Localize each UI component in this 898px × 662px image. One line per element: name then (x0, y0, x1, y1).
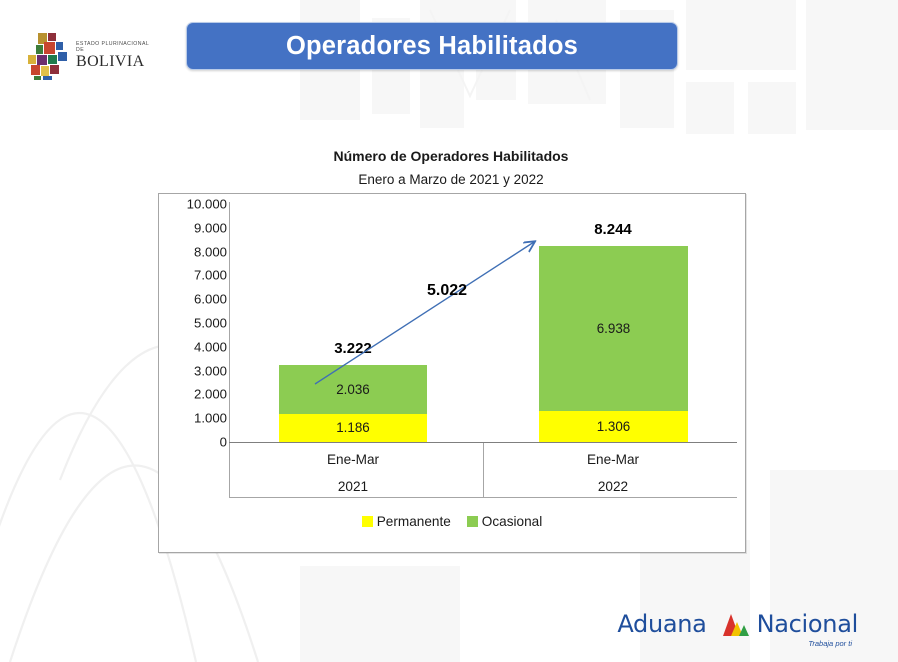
bolivia-logo-supertext: ESTADO PLURINACIONAL DE (76, 42, 154, 52)
slide-title-banner: Operadores Habilitados (186, 22, 678, 70)
legend-label-permanente: Permanente (377, 514, 451, 529)
y-tick-label: 4.000 (157, 339, 227, 354)
plot-area: 10.000 9.000 8.000 7.000 6.000 5.000 4.0… (159, 194, 745, 552)
y-tick-label: 1.000 (157, 411, 227, 426)
category-label-2021: Ene-Mar (243, 452, 463, 467)
growth-arrow-icon (229, 194, 737, 454)
y-tick-label: 7.000 (157, 268, 227, 283)
chart-title: Número de Operadores Habilitados (158, 148, 744, 164)
legend-item-ocasional[interactable]: Ocasional (467, 514, 542, 529)
slide-title: Operadores Habilitados (286, 32, 578, 61)
y-tick-label: 5.000 (157, 316, 227, 331)
category-year-2021: 2021 (243, 479, 463, 494)
y-tick-label: 0 (157, 435, 227, 450)
aduana-logo-tagline: Trabaja por ti (617, 639, 852, 648)
legend-item-permanente[interactable]: Permanente (362, 514, 451, 529)
legend-swatch-ocasional (467, 516, 478, 527)
growth-value-label: 5.022 (427, 282, 467, 300)
aduana-logo-word-right: Nacional (757, 610, 858, 638)
chart-legend: Permanente Ocasional (159, 514, 745, 529)
y-tick-label: 10.000 (157, 197, 227, 212)
category-label-2022: Ene-Mar (503, 452, 723, 467)
y-tick-label: 6.000 (157, 292, 227, 307)
category-bottom-line (229, 497, 737, 498)
bolivia-emblem-icon (24, 31, 72, 81)
y-tick-label: 2.000 (157, 387, 227, 402)
legend-swatch-permanente (362, 516, 373, 527)
aduana-mountain-icon (710, 611, 754, 637)
bolivia-state-logo: ESTADO PLURINACIONAL DE BOLIVIA (24, 28, 154, 84)
y-tick-label: 8.000 (157, 244, 227, 259)
aduana-logo-word-left: Aduana (617, 610, 706, 638)
y-tick-label: 3.000 (157, 363, 227, 378)
y-tick-label: 9.000 (157, 220, 227, 235)
chart-frame: 10.000 9.000 8.000 7.000 6.000 5.000 4.0… (158, 193, 746, 553)
chart-subtitle: Enero a Marzo de 2021 y 2022 (158, 172, 744, 187)
category-year-2022: 2022 (503, 479, 723, 494)
legend-label-ocasional: Ocasional (482, 514, 542, 529)
bolivia-logo-name: BOLIVIA (76, 54, 154, 70)
aduana-nacional-logo: Aduana Nacional Trabaja por ti (617, 610, 858, 648)
